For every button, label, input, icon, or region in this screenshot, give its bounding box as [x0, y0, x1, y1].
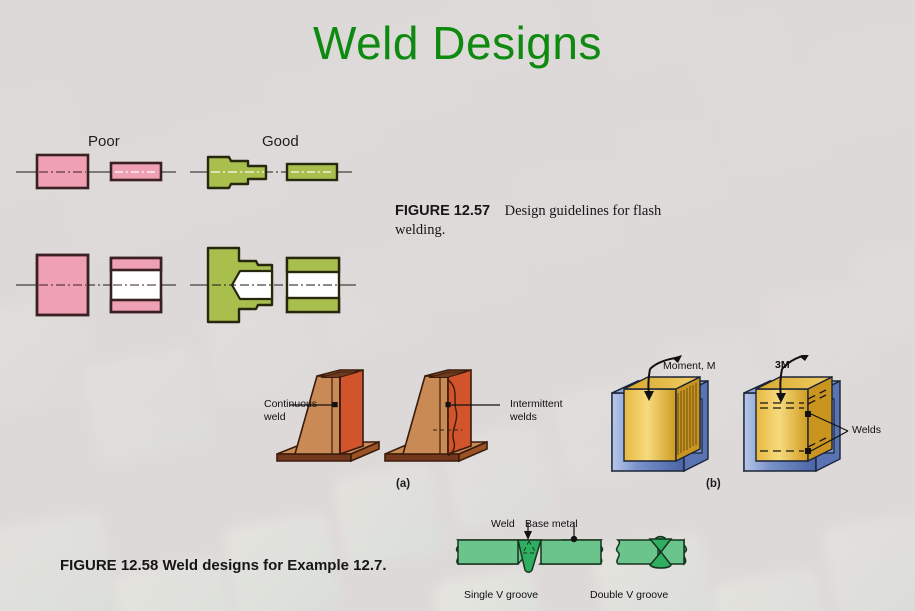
figure-12-58-caption: FIGURE 12.58 Weld designs for Example 12…: [60, 556, 390, 576]
callout-continuous-weld: Continuous weld: [264, 398, 317, 423]
figure-part-a-letter: (a): [396, 478, 410, 490]
label-welds: Welds: [852, 424, 881, 436]
figure-12-57-caption-text: Design guidelines for flash: [505, 203, 662, 219]
label-3m: 3M: [775, 359, 790, 371]
figure-12-58-caption-text: FIGURE 12.58 Weld designs for Example 12…: [60, 557, 387, 574]
callout-intermittent-welds: Intermittent welds: [510, 398, 563, 423]
background-cube: [711, 65, 833, 180]
figure-12-57-caption: FIGURE 12.57 Design guidelines for flash…: [395, 202, 745, 240]
slide-canvas: Weld Designs Poor Good: [0, 0, 915, 611]
caption-single-v-groove: Single V groove: [464, 589, 538, 601]
caption-double-v-groove: Double V groove: [590, 589, 668, 601]
background-cube: [853, 237, 915, 345]
figure-12-58-part-b-drawing: [598, 355, 878, 480]
page-title: Weld Designs: [0, 16, 915, 70]
background-cube: [823, 512, 915, 611]
background-cube: [81, 344, 214, 466]
label-moment-m: Moment, M: [663, 360, 716, 372]
background-cube: [333, 462, 447, 570]
figure-12-57-caption-label: FIGURE 12.57: [395, 203, 490, 219]
figure-12-57-drawing: [0, 140, 380, 330]
label-weld: Weld: [491, 518, 515, 530]
background-cube: [713, 567, 833, 611]
label-base-metal: Base metal: [525, 518, 578, 530]
figure-part-b-letter: (b): [706, 478, 721, 490]
figure-12-57-caption-text2: welding.: [395, 221, 745, 240]
